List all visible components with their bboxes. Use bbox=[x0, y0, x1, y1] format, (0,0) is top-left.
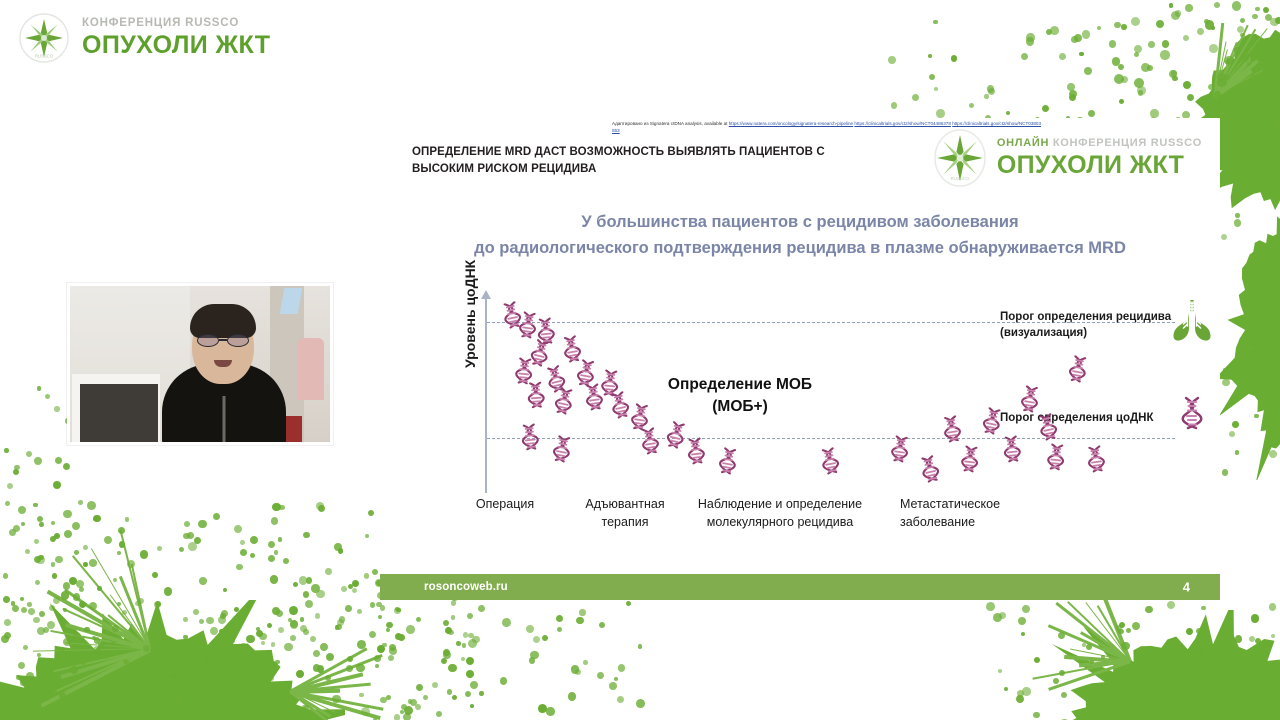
splatter-dot bbox=[386, 695, 391, 700]
splatter-dot bbox=[1167, 601, 1175, 609]
splatter-dot bbox=[1127, 688, 1132, 693]
splatter-dot bbox=[84, 627, 89, 632]
splatter-dot bbox=[235, 664, 244, 673]
splatter-dot bbox=[1255, 7, 1259, 11]
splatter-dot bbox=[579, 609, 585, 615]
threshold-label-recurrence-line2: (визуализация) bbox=[1000, 326, 1171, 342]
splatter-ray bbox=[289, 690, 331, 718]
splatter-ray bbox=[1214, 69, 1253, 99]
splatter-dot bbox=[4, 632, 11, 639]
splatter-ray bbox=[1064, 655, 1130, 664]
phase-label-surveillance-line1: Наблюдение и определение bbox=[680, 496, 880, 514]
slide-subtitle: У большинства пациентов с рецидивом забо… bbox=[380, 210, 1220, 261]
splatter-dot bbox=[1185, 4, 1192, 11]
splatter-ray bbox=[1214, 42, 1238, 97]
splatter-dot bbox=[1050, 26, 1059, 35]
splatter-dot bbox=[1232, 1, 1242, 11]
splatter-dot bbox=[1259, 114, 1266, 121]
dna-marker bbox=[552, 386, 577, 416]
splatter-dot bbox=[380, 697, 386, 703]
dna-marker bbox=[608, 390, 633, 420]
splatter-dot bbox=[265, 669, 270, 674]
splatter-dot bbox=[268, 555, 275, 562]
splatter-dot bbox=[72, 522, 80, 530]
video-pink-object bbox=[298, 338, 324, 400]
splatter-dot bbox=[180, 663, 185, 668]
splatter-dot bbox=[1227, 140, 1231, 144]
splatter-dot bbox=[451, 615, 455, 619]
splatter-dot bbox=[335, 710, 340, 715]
splatter-dot bbox=[1069, 94, 1076, 101]
splatter-dot bbox=[346, 665, 353, 672]
slide-logo-brand: ОПУХОЛИ ЖКТ bbox=[997, 153, 1202, 178]
splatter-dot bbox=[93, 515, 100, 522]
splatter-dot bbox=[1059, 53, 1066, 60]
splatter-dot bbox=[125, 517, 130, 522]
splatter-dot bbox=[1109, 40, 1116, 47]
splatter-dot bbox=[92, 636, 96, 640]
splatter-dot bbox=[377, 645, 385, 653]
splatter-dot bbox=[618, 664, 626, 672]
splatter-dot bbox=[236, 564, 242, 570]
splatter-dot bbox=[1053, 678, 1059, 684]
splatter-dot bbox=[203, 657, 209, 663]
dna-marker bbox=[818, 446, 843, 475]
splatter-dot bbox=[16, 675, 21, 680]
splatter-dot bbox=[1257, 363, 1264, 370]
splatter-dot bbox=[188, 542, 197, 551]
splatter-dot bbox=[205, 651, 212, 658]
splatter-dot bbox=[470, 681, 478, 689]
splatter-dot bbox=[568, 692, 576, 700]
splatter-dot bbox=[1245, 350, 1253, 358]
splatter-dot bbox=[936, 109, 945, 118]
splatter-dot bbox=[235, 675, 242, 682]
splatter-dot bbox=[274, 550, 279, 555]
splatter-dot bbox=[300, 617, 304, 621]
splatter-dot bbox=[164, 644, 170, 650]
splatter-dot bbox=[599, 622, 605, 628]
splatter-ray bbox=[1215, 41, 1227, 95]
dna-marker bbox=[1084, 445, 1107, 474]
splatter-dot bbox=[89, 559, 96, 566]
splatter-dot bbox=[267, 623, 272, 628]
threshold-line-ctdna bbox=[487, 438, 1175, 439]
splatter-dot bbox=[1131, 17, 1140, 26]
splatter-dot bbox=[1122, 705, 1126, 709]
phase-label-metastatic-line1: Метастатическое bbox=[900, 496, 1060, 514]
splatter-dot bbox=[269, 676, 274, 681]
splatter-dot bbox=[73, 593, 81, 601]
splatter-dot bbox=[1234, 219, 1242, 227]
splatter-dot bbox=[113, 578, 117, 582]
dna-marker bbox=[684, 437, 707, 465]
splatter-dot bbox=[5, 501, 10, 506]
splatter-ray bbox=[1097, 605, 1131, 661]
splatter-dot bbox=[118, 527, 125, 534]
splatter-dot bbox=[609, 682, 617, 690]
splatter-dot bbox=[365, 534, 369, 538]
splatter-dot bbox=[276, 610, 283, 617]
splatter-dot bbox=[1234, 111, 1241, 118]
splatter-dot bbox=[271, 517, 279, 525]
splatter-dot bbox=[114, 674, 119, 679]
splatter-dot bbox=[74, 550, 79, 555]
splatter-dot bbox=[43, 667, 48, 672]
splatter-dot bbox=[187, 676, 192, 681]
splatter-dot bbox=[59, 649, 65, 655]
slide-logo-kicker: ОНЛАЙН КОНФЕРЕНЦИЯ RUSSCO bbox=[997, 138, 1202, 149]
splatter-dot bbox=[130, 667, 137, 674]
splatter-dot bbox=[468, 639, 477, 648]
splatter-dot bbox=[302, 705, 306, 709]
splatter-dot bbox=[138, 598, 144, 604]
splatter-dot bbox=[1225, 648, 1233, 656]
splatter-dot bbox=[1249, 636, 1255, 642]
splatter-dot bbox=[1209, 44, 1218, 53]
splatter-dot bbox=[1215, 107, 1221, 113]
splatter-dot bbox=[1086, 644, 1092, 650]
splatter-dot bbox=[223, 588, 227, 592]
splatter-dot bbox=[1189, 661, 1196, 668]
splatter-dot bbox=[37, 516, 43, 522]
splatter-dot bbox=[1217, 73, 1226, 82]
splatter-dot bbox=[1253, 134, 1257, 138]
splatter-dot bbox=[52, 573, 58, 579]
splatter-ray bbox=[289, 648, 367, 693]
splatter-dot bbox=[1082, 30, 1091, 39]
splatter-dot bbox=[891, 102, 898, 109]
splatter-dot bbox=[1119, 99, 1124, 104]
splatter-dot bbox=[193, 654, 198, 659]
splatter-dot bbox=[341, 586, 347, 592]
splatter-dot bbox=[1247, 707, 1255, 715]
dna-marker bbox=[980, 406, 1005, 436]
dna-marker bbox=[1001, 435, 1024, 463]
splatter-dot bbox=[270, 575, 279, 584]
splatter-dot bbox=[1171, 11, 1180, 20]
splatter-dot bbox=[986, 602, 995, 611]
splatter-dot bbox=[1016, 695, 1024, 703]
splatter-dot bbox=[1182, 707, 1188, 713]
splatter-dot bbox=[290, 635, 296, 641]
splatter-dot bbox=[79, 601, 87, 609]
splatter-ray bbox=[64, 588, 151, 651]
splatter-dot bbox=[51, 562, 55, 566]
dna-marker bbox=[888, 435, 911, 464]
splatter-dot bbox=[296, 670, 304, 678]
splatter-dot bbox=[130, 681, 135, 686]
splatter-dot bbox=[79, 701, 85, 707]
splatter-dot bbox=[1254, 414, 1258, 418]
splatter-dot bbox=[290, 620, 299, 629]
splatter-dot bbox=[221, 610, 229, 618]
splatter-dot bbox=[401, 704, 407, 710]
splatter-dot bbox=[316, 502, 324, 510]
splatter-dot bbox=[1059, 670, 1065, 676]
splatter-dot bbox=[218, 616, 225, 623]
splatter-dot bbox=[73, 632, 81, 640]
splatter-dot bbox=[1022, 605, 1030, 613]
splatter-dot bbox=[63, 510, 72, 519]
presenter-video-feed[interactable] bbox=[67, 283, 333, 445]
splatter-dot bbox=[368, 510, 374, 516]
splatter-dot bbox=[1225, 60, 1230, 65]
splatter-dot bbox=[456, 641, 460, 645]
splatter-dot bbox=[370, 602, 375, 607]
splatter-ray bbox=[1214, 57, 1253, 99]
splatter-ray bbox=[47, 590, 151, 652]
splatter-dot bbox=[400, 710, 404, 714]
splatter-dot bbox=[83, 562, 87, 566]
splatter-dot bbox=[467, 613, 473, 619]
splatter-dot bbox=[1074, 34, 1082, 42]
presentation-slide[interactable]: ОПРЕДЕЛЕНИЕ MRD ДАСТ ВОЗМОЖНОСТЬ ВЫЯВЛЯТ… bbox=[380, 118, 1220, 600]
splatter-dot bbox=[1134, 45, 1142, 53]
splatter-dot bbox=[152, 636, 159, 643]
splatter-dot bbox=[54, 406, 59, 411]
splatter-dot bbox=[117, 602, 121, 606]
splatter-dot bbox=[375, 664, 379, 668]
splatter-dot bbox=[154, 601, 161, 608]
splatter-dot bbox=[347, 656, 353, 662]
splatter-dot bbox=[303, 629, 309, 635]
splatter-dot bbox=[250, 536, 258, 544]
splatter-dot bbox=[78, 500, 83, 505]
phase-label-adjuvant-line2: терапия bbox=[560, 514, 690, 532]
splatter-dot bbox=[311, 584, 319, 592]
splatter-dot bbox=[275, 660, 280, 665]
splatter-dot bbox=[378, 615, 382, 619]
splatter-dot bbox=[406, 625, 415, 634]
dna-marker bbox=[519, 423, 542, 451]
dna-marker bbox=[513, 357, 536, 385]
splatter-dot bbox=[1114, 74, 1124, 84]
splatter-dot bbox=[395, 607, 400, 612]
splatter-dot bbox=[272, 503, 280, 511]
splatter-dot bbox=[199, 577, 207, 585]
splatter-dot bbox=[1169, 70, 1177, 78]
splatter-dot bbox=[1247, 346, 1252, 351]
splatter-dot bbox=[415, 704, 421, 710]
splatter-dot bbox=[101, 696, 107, 702]
splatter-dot bbox=[154, 658, 160, 664]
splatter-dot bbox=[1275, 371, 1280, 376]
splatter-dot bbox=[448, 630, 454, 636]
splatter-dot bbox=[332, 695, 340, 703]
splatter-dot bbox=[1235, 635, 1243, 643]
splatter-dot bbox=[93, 517, 97, 521]
splatter-ray bbox=[60, 648, 150, 679]
splatter-dot bbox=[357, 609, 362, 614]
splatter-dot bbox=[283, 558, 289, 564]
splatter-dot bbox=[1238, 167, 1246, 175]
splatter-dot bbox=[1183, 35, 1189, 41]
splatter-dot bbox=[1134, 78, 1144, 88]
splatter-dot bbox=[466, 670, 474, 678]
splatter-dot bbox=[1172, 76, 1177, 81]
splatter-dot bbox=[4, 619, 11, 626]
splatter-dot bbox=[1116, 625, 1122, 631]
splatter-dot bbox=[1231, 706, 1237, 712]
splatter-dot bbox=[28, 608, 35, 615]
splatter-dot bbox=[1217, 78, 1226, 87]
splatter-dot bbox=[1234, 47, 1241, 54]
footer-citation-link-2[interactable]: https://clinicaltrials.gov/ct2/show/NCT0… bbox=[854, 121, 951, 126]
splatter-dot bbox=[638, 644, 643, 649]
splatter-dot bbox=[238, 682, 245, 689]
splatter-dot bbox=[70, 666, 78, 674]
splatter-dot bbox=[386, 628, 390, 632]
splatter-dot bbox=[1252, 14, 1258, 20]
splatter-dot bbox=[119, 541, 126, 548]
splatter-dot bbox=[1186, 628, 1193, 635]
splatter-dot bbox=[1249, 253, 1255, 259]
splatter-dot bbox=[1211, 26, 1215, 30]
splatter-dot bbox=[1237, 26, 1244, 33]
splatter-dot bbox=[928, 54, 932, 58]
splatter-dot bbox=[256, 630, 263, 637]
splatter-dot bbox=[139, 715, 147, 720]
splatter-dot bbox=[1258, 103, 1265, 110]
splatter-dot bbox=[33, 617, 39, 623]
splatter-ray bbox=[1213, 23, 1224, 97]
splatter-ray bbox=[1048, 660, 1130, 691]
splatter-dot bbox=[183, 617, 188, 622]
splatter-dot bbox=[1042, 105, 1049, 112]
splatter-dot bbox=[23, 645, 28, 650]
splatter-dot bbox=[410, 699, 417, 706]
splatter-dot bbox=[432, 682, 438, 688]
splatter-ray bbox=[108, 614, 151, 650]
splatter-dot bbox=[1232, 421, 1238, 427]
splatter-dot bbox=[1269, 450, 1277, 458]
brand-kicker: КОНФЕРЕНЦИЯ RUSSCO bbox=[82, 18, 270, 30]
splatter-dot bbox=[1253, 319, 1257, 323]
splatter-ray bbox=[290, 689, 340, 694]
splatter-dot bbox=[382, 643, 387, 648]
splatter-dot bbox=[556, 615, 563, 622]
splatter-ray bbox=[62, 608, 150, 649]
splatter-dot bbox=[1166, 715, 1173, 720]
splatter-dot bbox=[1265, 172, 1273, 180]
splatter-dot bbox=[27, 602, 32, 607]
splatter-dot bbox=[34, 457, 42, 465]
splatter-dot bbox=[1208, 84, 1214, 90]
slide-logo-kicker-online: ОНЛАЙН bbox=[997, 137, 1049, 149]
splatter-ray bbox=[1214, 59, 1259, 98]
splatter-dot bbox=[254, 681, 262, 689]
splatter-dot bbox=[452, 695, 457, 700]
splatter-dot bbox=[246, 635, 254, 643]
splatter-dot bbox=[338, 548, 343, 553]
splatter-dot bbox=[316, 590, 325, 599]
splatter-dot bbox=[359, 693, 363, 697]
dna-marker bbox=[550, 434, 575, 463]
splatter-ray bbox=[66, 642, 150, 649]
splatter-dot bbox=[206, 617, 214, 625]
splatter-dot bbox=[984, 94, 988, 98]
splatter-dot bbox=[210, 627, 218, 635]
splatter-dot bbox=[1269, 603, 1277, 611]
splatter-dot bbox=[443, 620, 449, 626]
splatter-dot bbox=[576, 617, 583, 624]
splatter-dot bbox=[3, 596, 10, 603]
splatter-dot bbox=[1006, 111, 1010, 115]
splatter-dot bbox=[1124, 693, 1130, 699]
splatter-dot bbox=[1171, 70, 1177, 76]
splatter-dot bbox=[4, 448, 9, 453]
splatter-dot bbox=[1119, 622, 1125, 628]
splatter-dot bbox=[1148, 682, 1152, 686]
splatter-dot bbox=[240, 540, 245, 545]
splatter-dot bbox=[63, 638, 72, 647]
splatter-dot bbox=[183, 635, 187, 639]
splatter-dot bbox=[290, 620, 299, 629]
splatter-dot bbox=[1089, 715, 1095, 720]
slide-logo-kicker-rest: КОНФЕРЕНЦИЯ RUSSCO bbox=[1049, 137, 1202, 149]
splatter-dot bbox=[1118, 64, 1124, 70]
splatter-dot bbox=[394, 607, 401, 614]
splatter-dot bbox=[1148, 41, 1155, 48]
splatter-dot bbox=[1021, 632, 1026, 637]
splatter-dot bbox=[1252, 55, 1257, 60]
splatter-dot bbox=[89, 602, 97, 610]
splatter-dot bbox=[1141, 63, 1150, 72]
splatter-dot bbox=[463, 632, 468, 637]
phase-label-metastatic: Метастатическое заболевание bbox=[900, 496, 1060, 531]
splatter-dot bbox=[416, 617, 421, 622]
splatter-dot bbox=[80, 659, 86, 665]
splatter-dot bbox=[293, 582, 298, 587]
splatter-dot bbox=[443, 651, 451, 659]
splatter-ray bbox=[1214, 49, 1228, 95]
splatter-ray bbox=[119, 529, 151, 649]
splatter-dot bbox=[34, 556, 41, 563]
splatter-dot bbox=[63, 463, 70, 470]
splatter-dot bbox=[59, 692, 66, 699]
splatter-dot bbox=[18, 711, 23, 716]
splatter-dot bbox=[320, 643, 328, 651]
splatter-dot bbox=[364, 573, 370, 579]
dna-marker bbox=[638, 427, 662, 456]
splatter-dot bbox=[237, 675, 241, 679]
splatter-dot bbox=[325, 675, 331, 681]
splatter-dot bbox=[1197, 28, 1204, 35]
splatter-dot bbox=[1220, 669, 1228, 677]
splatter-dot bbox=[1270, 18, 1278, 26]
splatter-dot bbox=[1240, 18, 1245, 23]
splatter-dot bbox=[256, 627, 260, 631]
splatter-dot bbox=[21, 522, 25, 526]
splatter-dot bbox=[166, 672, 171, 677]
splatter-dot bbox=[1107, 716, 1115, 720]
splatter-dot bbox=[1247, 62, 1251, 66]
splatter-dot bbox=[1259, 396, 1264, 401]
splatter-dot bbox=[352, 588, 357, 593]
splatter-dot bbox=[597, 672, 604, 679]
splatter-dot bbox=[1262, 643, 1271, 652]
splatter-dot bbox=[104, 536, 113, 545]
splatter-dot bbox=[54, 533, 60, 539]
splatter-dot bbox=[1223, 368, 1227, 372]
splatter-dot bbox=[436, 711, 442, 717]
splatter-dot bbox=[151, 624, 158, 631]
splatter-dot bbox=[12, 605, 19, 612]
splatter-dot bbox=[39, 522, 44, 527]
splatter-dot bbox=[183, 672, 189, 678]
footer-citation-link-1[interactable]: https://www.natera.com/oncology/signater… bbox=[729, 121, 853, 126]
